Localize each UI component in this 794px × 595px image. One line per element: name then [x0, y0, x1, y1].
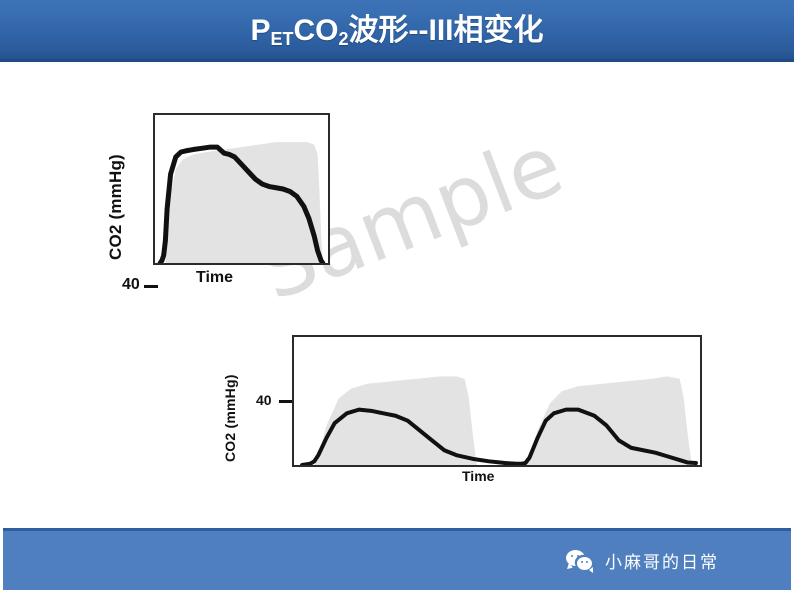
chart1-waveform-svg: [155, 115, 328, 263]
page-title: PETCO2波形--III相变化: [250, 16, 543, 46]
chart1-x-axis-label: Time: [196, 269, 233, 287]
wechat-icon: [566, 550, 596, 572]
slide-footer-banner: 小麻哥的日常: [3, 528, 791, 590]
chart2-waveform-svg: [294, 337, 700, 465]
title-subscript-et: ET: [270, 29, 293, 49]
wechat-account-name: 小麻哥的日常: [605, 548, 719, 573]
slide-canvas: PETCO2波形--III相变化 Sample CO2 (mmHg) 40 Ti…: [0, 0, 794, 595]
chart1-plot-area: [153, 113, 330, 265]
title-mid: CO: [294, 14, 339, 47]
wechat-brand: 小麻哥的日常: [566, 548, 719, 573]
chart1-y-tick-mark: [144, 285, 158, 288]
slide-title-banner: PETCO2波形--III相变化: [0, 0, 794, 62]
chart2-y-tick-40: 40: [256, 392, 272, 408]
chart2-reference-envelope-breath2: [525, 376, 691, 465]
capnogram-chart-upper: CO2 (mmHg) 40 Time: [92, 105, 352, 290]
title-subscript-2: 2: [339, 29, 349, 49]
chart1-y-tick-40: 40: [122, 276, 140, 294]
chart2-y-axis-label: CO2 (mmHg): [222, 374, 238, 462]
capnogram-chart-lower: CO2 (mmHg) 40 Time: [216, 332, 706, 484]
chart2-plot-area: [292, 335, 702, 467]
chart1-y-axis-label: CO2 (mmHg): [106, 154, 126, 260]
title-suffix: 波形--III相变化: [349, 14, 544, 47]
title-prefix: P: [250, 14, 270, 47]
chart2-x-axis-label: Time: [462, 468, 494, 484]
